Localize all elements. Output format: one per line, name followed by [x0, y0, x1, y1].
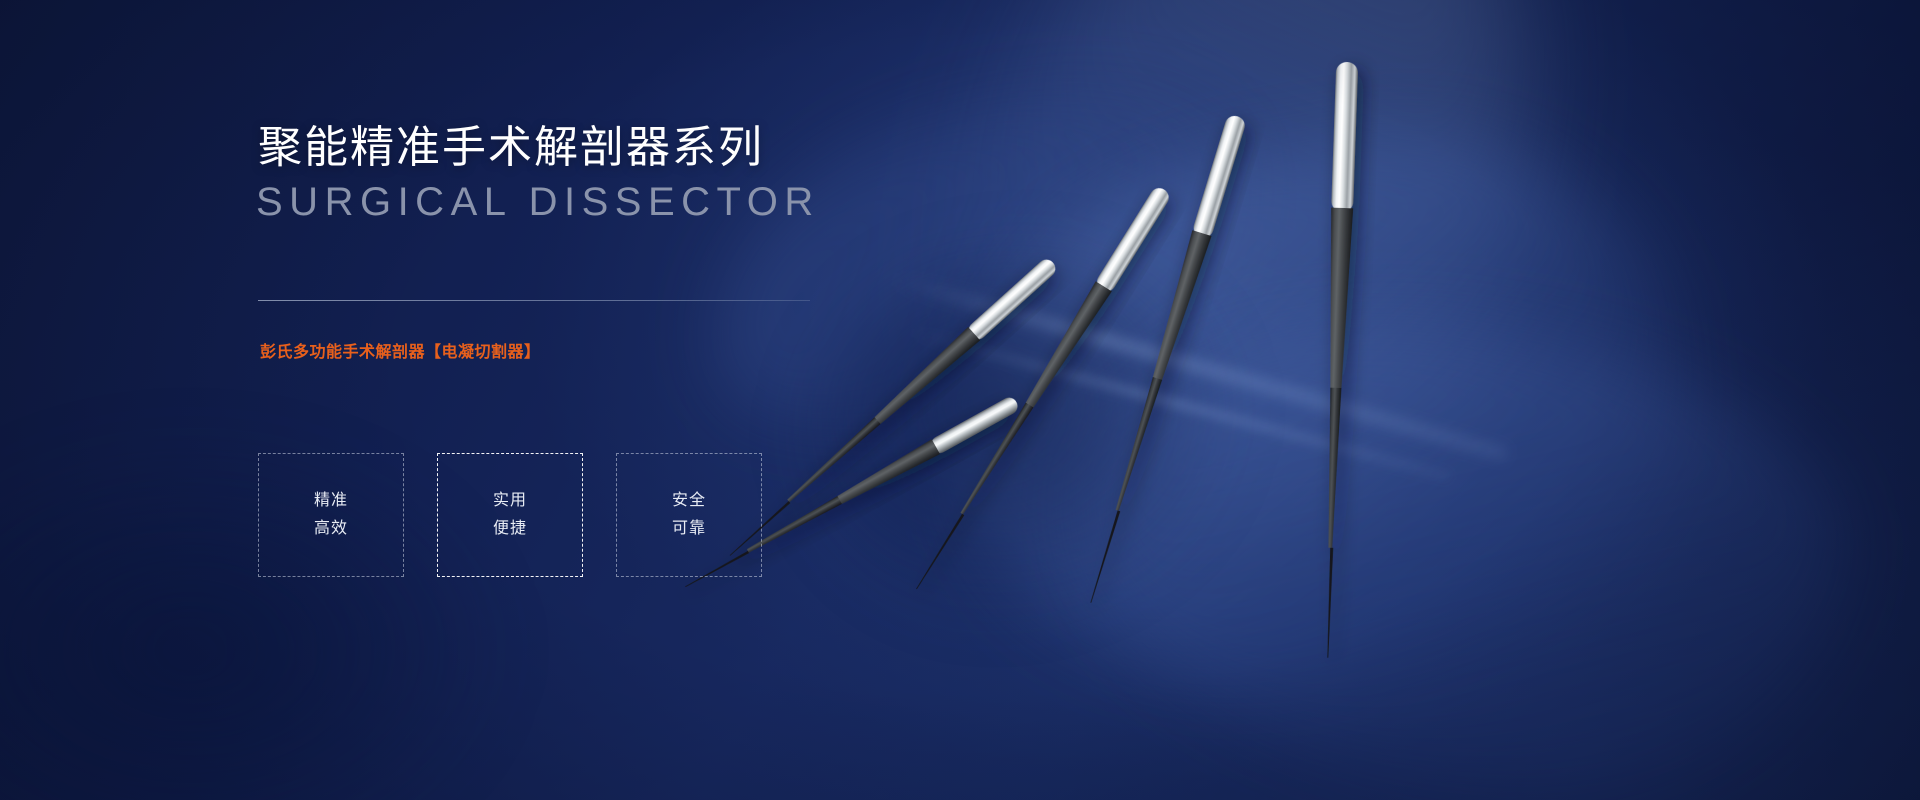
- banner-content: 聚能精准手术解剖器系列 SURGICAL DISSECTOR 彭氏多功能手术解剖…: [258, 0, 1158, 800]
- feature-box-safety[interactable]: 安全 可靠: [616, 453, 762, 577]
- feature-box-safety-line1: 安全: [672, 487, 706, 515]
- title-divider: [258, 300, 810, 301]
- hero-banner: 聚能精准手术解剖器系列 SURGICAL DISSECTOR 彭氏多功能手术解剖…: [0, 0, 1920, 800]
- feature-box-precision-line1: 精准: [314, 487, 348, 515]
- feature-box-group: 精准 高效 实用 便捷 安全 可靠: [258, 453, 762, 577]
- feature-box-precision[interactable]: 精准 高效: [258, 453, 404, 577]
- feature-box-safety-line2: 可靠: [672, 515, 706, 543]
- feature-box-practical-line2: 便捷: [493, 515, 527, 543]
- feature-box-practical[interactable]: 实用 便捷: [437, 453, 583, 577]
- feature-box-precision-line2: 高效: [314, 515, 348, 543]
- banner-subtitle: 彭氏多功能手术解剖器【电凝切割器】: [260, 338, 541, 362]
- feature-box-practical-line1: 实用: [493, 487, 527, 515]
- banner-title-chinese: 聚能精准手术解剖器系列: [258, 120, 764, 175]
- banner-title-english: SURGICAL DISSECTOR: [256, 176, 820, 228]
